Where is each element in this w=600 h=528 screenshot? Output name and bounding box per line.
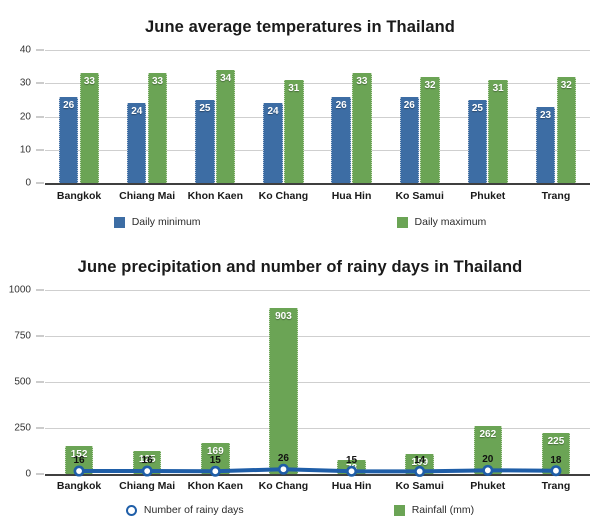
y-axis-tick-label: 0 xyxy=(0,469,31,480)
gridline xyxy=(45,83,590,84)
y-axis-tick-mark xyxy=(36,149,44,150)
x-axis-category-label: Chiang Mai xyxy=(113,190,181,202)
legend-label-rainy-days: Number of rainy days xyxy=(144,504,244,516)
bar-value-label: 903 xyxy=(269,311,298,322)
bar-value-label: 31 xyxy=(488,83,507,94)
bar-value-label: 24 xyxy=(263,106,282,117)
temperature-plot-wrap: 0102030402633243325342431263326322531233… xyxy=(0,50,600,190)
x-axis-category-label: Khon Kaen xyxy=(181,480,249,492)
legend-swatch-green-icon xyxy=(397,217,408,228)
precipitation-plot-area: 0250500750100015212516990378109262225161… xyxy=(45,290,590,474)
legend-swatch-blue-icon xyxy=(114,217,125,228)
y-axis-tick-label: 250 xyxy=(0,423,31,434)
bar-value-label: 33 xyxy=(148,76,167,87)
line-value-label: 16 xyxy=(59,455,99,466)
y-axis-tick-label: 20 xyxy=(0,111,31,122)
legend-spacer xyxy=(244,504,394,516)
bar-value-label: 24 xyxy=(127,106,146,117)
temperature-plot-area: 0102030402633243325342431263326322531233… xyxy=(45,50,590,183)
line-value-label: 16 xyxy=(127,455,167,466)
bar-temperature-1-1 xyxy=(148,73,167,183)
legend-circle-marker-icon xyxy=(126,505,137,516)
bar-value-label: 32 xyxy=(557,80,576,91)
bar-value-label: 34 xyxy=(216,73,235,84)
bar-value-label: 23 xyxy=(536,110,555,121)
line-value-label: 20 xyxy=(468,454,508,465)
x-axis-category-label: Ko Samui xyxy=(386,480,454,492)
legend-item-daily-maximum: Daily maximum xyxy=(397,216,487,228)
bar-temperature-1-6 xyxy=(488,80,507,183)
y-axis-tick-mark xyxy=(36,183,44,184)
bar-value-label: 25 xyxy=(195,103,214,114)
y-axis-tick-mark xyxy=(36,474,44,475)
gridline xyxy=(45,336,590,337)
bar-temperature-1-0 xyxy=(80,73,99,183)
y-axis-tick-mark xyxy=(36,382,44,383)
line-value-label: 18 xyxy=(536,455,576,466)
bar-value-label: 25 xyxy=(468,103,487,114)
temperature-chart-title: June average temperatures in Thailand xyxy=(0,0,600,37)
bar-temperature-1-2 xyxy=(216,70,235,183)
temperature-chart: June average temperatures in Thailand 01… xyxy=(0,0,600,242)
y-axis-tick-label: 40 xyxy=(0,45,31,56)
legend-item-rainy-days: Number of rainy days xyxy=(126,504,244,516)
gridline xyxy=(45,428,590,429)
weather-charts-page: June average temperatures in Thailand 01… xyxy=(0,0,600,528)
bar-temperature-1-3 xyxy=(284,80,303,183)
bar-temperature-1-5 xyxy=(420,77,439,183)
bar-value-label: 33 xyxy=(80,76,99,87)
bar-value-label: 262 xyxy=(474,429,503,440)
line-value-label: 15 xyxy=(332,455,372,466)
precipitation-plot-wrap: 0250500750100015212516990378109262225161… xyxy=(0,290,600,480)
x-axis-category-label: Trang xyxy=(522,190,590,202)
gridline xyxy=(45,183,590,185)
bar-value-label: 225 xyxy=(542,436,571,447)
gridline xyxy=(45,50,590,51)
line-value-label: 26 xyxy=(263,453,303,464)
y-axis-tick-label: 10 xyxy=(0,144,31,155)
y-axis-tick-mark xyxy=(36,336,44,337)
line-value-label: 15 xyxy=(195,455,235,466)
x-axis-category-label: Hua Hin xyxy=(318,480,386,492)
bar-value-label: 26 xyxy=(331,100,350,111)
x-axis-category-label: Khon Kaen xyxy=(181,190,249,202)
x-axis-category-label: Trang xyxy=(522,480,590,492)
bar-value-label: 26 xyxy=(400,100,419,111)
x-axis-category-label: Phuket xyxy=(454,190,522,202)
y-axis-tick-label: 30 xyxy=(0,78,31,89)
bar-value-label: 31 xyxy=(284,83,303,94)
temperature-legend: Daily minimum Daily maximum xyxy=(0,216,600,228)
bar-temperature-1-4 xyxy=(352,73,371,183)
gridline xyxy=(45,290,590,291)
legend-item-rainfall: Rainfall (mm) xyxy=(394,504,474,516)
legend-item-daily-minimum: Daily minimum xyxy=(114,216,201,228)
x-axis-category-label: Hua Hin xyxy=(318,190,386,202)
x-axis-category-label: Ko Chang xyxy=(249,190,317,202)
bar-value-label: 26 xyxy=(59,100,78,111)
y-axis-tick-mark xyxy=(36,428,44,429)
y-axis-tick-label: 1000 xyxy=(0,285,31,296)
gridline xyxy=(45,382,590,383)
bar-value-label: 33 xyxy=(352,76,371,87)
precipitation-chart: June precipitation and number of rainy d… xyxy=(0,242,600,528)
x-axis-category-label: Ko Samui xyxy=(386,190,454,202)
bar-temperature-1-7 xyxy=(557,77,576,183)
legend-swatch-green-icon xyxy=(394,505,405,516)
y-axis-tick-mark xyxy=(36,290,44,291)
line-value-label: 14 xyxy=(400,455,440,466)
gridline xyxy=(45,474,590,476)
precipitation-chart-title: June precipitation and number of rainy d… xyxy=(0,242,600,277)
x-axis-category-label: Phuket xyxy=(454,480,522,492)
legend-label-daily-maximum: Daily maximum xyxy=(415,216,487,228)
bar-rainfall-3 xyxy=(269,308,298,474)
y-axis-tick-label: 500 xyxy=(0,377,31,388)
x-axis-category-label: Bangkok xyxy=(45,190,113,202)
y-axis-tick-mark xyxy=(36,116,44,117)
bar-value-label: 32 xyxy=(420,80,439,91)
y-axis-tick-label: 0 xyxy=(0,178,31,189)
legend-label-rainfall: Rainfall (mm) xyxy=(412,504,474,516)
precipitation-legend: Number of rainy days Rainfall (mm) xyxy=(0,504,600,516)
x-axis-category-label: Ko Chang xyxy=(249,480,317,492)
y-axis-tick-mark xyxy=(36,50,44,51)
y-axis-tick-label: 750 xyxy=(0,331,31,342)
legend-label-daily-minimum: Daily minimum xyxy=(132,216,201,228)
x-axis-category-label: Chiang Mai xyxy=(113,480,181,492)
y-axis-tick-mark xyxy=(36,83,44,84)
x-axis-category-label: Bangkok xyxy=(45,480,113,492)
legend-spacer xyxy=(201,216,397,228)
